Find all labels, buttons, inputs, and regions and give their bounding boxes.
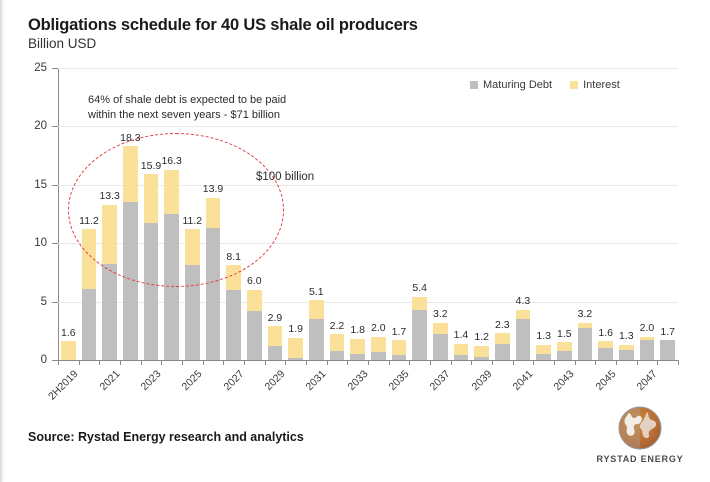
x-axis-label-2033: 2033 [345,368,370,393]
bar-2033[interactable]: 1.8 [350,68,365,360]
page-edge-shadow [0,0,4,482]
x-tick [513,360,514,365]
chart-page: Obligations schedule for 40 US shale oil… [0,0,710,482]
bar-value-label: 5.1 [309,287,324,298]
bar-value-label: 16.3 [161,156,181,167]
segment-maturing-debt [164,214,179,360]
bar-value-label: 2.0 [640,323,655,334]
x-axis-label-2031: 2031 [304,368,329,393]
segment-interest [371,337,386,352]
y-axis-label-5: 5 [41,296,47,308]
segment-interest [454,344,469,356]
segment-interest [516,310,531,319]
segment-interest [392,340,407,355]
segment-maturing-debt [516,319,531,360]
bar-value-label: 1.9 [288,324,303,335]
segment-maturing-debt [226,290,241,360]
segment-interest [598,341,613,348]
x-axis-label-2021: 2021 [97,368,122,393]
segment-maturing-debt [123,202,138,360]
y-axis-label-20: 20 [34,120,47,132]
x-tick [533,360,534,365]
segment-maturing-debt [433,334,448,360]
bar-2048[interactable]: 1.7 [660,68,675,360]
bar-2037[interactable]: 3.2 [433,68,448,360]
source-note: Source: Rystad Energy research and analy… [28,430,304,444]
bar-2031[interactable]: 5.1 [309,68,324,360]
bar-value-label: 2.2 [330,321,345,332]
x-axis-label-2039: 2039 [469,368,494,393]
x-tick [58,360,59,365]
x-axis-label-2045: 2045 [593,368,618,393]
x-axis-label-2H2019: 2H2019 [46,368,80,402]
bar-value-label: 6.0 [247,276,262,287]
bar-value-label: 15.9 [141,161,161,172]
x-tick [265,360,266,365]
segment-maturing-debt [412,310,427,360]
bar-value-label: 1.3 [619,331,634,342]
segment-interest [433,323,448,335]
x-tick [616,360,617,365]
y-axis-label-0: 0 [41,354,47,366]
segment-interest [288,338,303,358]
x-axis-label-2027: 2027 [221,368,246,393]
bar-value-label: 11.2 [79,216,99,227]
bar-value-label: 1.6 [598,328,613,339]
bar-2038[interactable]: 1.4 [454,68,469,360]
x-axis-label-2037: 2037 [428,368,453,393]
x-tick [595,360,596,365]
bar-value-label: 1.7 [392,327,407,338]
bar-value-label: 1.8 [350,325,365,336]
x-tick [141,360,142,365]
bar-2H2019[interactable]: 1.6 [61,68,76,360]
bar-2047[interactable]: 2.0 [640,68,655,360]
x-axis-label-2035: 2035 [386,368,411,393]
bar-value-label: 8.1 [226,252,241,263]
segment-maturing-debt [330,351,345,360]
x-axis-label-2025: 2025 [180,368,205,393]
x-tick [575,360,576,365]
bar-value-label: 4.3 [516,296,531,307]
x-tick [657,360,658,365]
x-tick [554,360,555,365]
page-subtitle: Billion USD [28,36,96,51]
bar-2035[interactable]: 1.7 [392,68,407,360]
bar-value-label: 1.7 [660,327,675,338]
segment-interest [330,334,345,350]
segment-maturing-debt [640,340,655,360]
segment-interest [185,229,200,265]
segment-maturing-debt [144,223,159,360]
bar-value-label: 13.9 [203,184,223,195]
x-axis-label-2023: 2023 [138,368,163,393]
y-axis-label-10: 10 [34,237,47,249]
segment-maturing-debt [598,348,613,360]
segment-interest [61,341,76,360]
x-tick [223,360,224,365]
ellipse-total-label: $100 billion [256,171,314,183]
bar-value-label: 3.2 [578,309,593,320]
segment-interest [123,146,138,202]
bar-2039[interactable]: 1.2 [474,68,489,360]
bar-value-label: 2.3 [495,320,510,331]
segment-interest [102,205,117,265]
segment-maturing-debt [309,319,324,360]
bar-2036[interactable]: 5.4 [412,68,427,360]
bar-2043[interactable]: 1.5 [557,68,572,360]
bar-value-label: 3.2 [433,309,448,320]
x-tick [389,360,390,365]
bar-value-label: 1.6 [61,328,76,339]
x-tick [347,360,348,365]
globe-icon [616,404,664,452]
segment-interest [247,290,262,311]
rystad-energy-logo: RYSTAD ENERGY [592,404,688,470]
x-tick [471,360,472,365]
x-tick [285,360,286,365]
segment-interest [226,265,241,290]
segment-interest [557,342,572,350]
x-tick [79,360,80,365]
bar-2041[interactable]: 4.3 [516,68,531,360]
bar-value-label: 13.3 [99,191,119,202]
logo-text: RYSTAD ENERGY [597,454,684,464]
x-tick [327,360,328,365]
x-tick [120,360,121,365]
x-tick [161,360,162,365]
segment-maturing-debt [82,289,97,360]
segment-interest [82,229,97,289]
x-tick [182,360,183,365]
bar-value-label: 1.4 [454,330,469,341]
x-tick [99,360,100,365]
segment-maturing-debt [660,340,675,360]
x-axis-label-2029: 2029 [262,368,287,393]
segment-maturing-debt [102,264,117,360]
bar-2045[interactable]: 1.6 [598,68,613,360]
x-axis-label-2047: 2047 [634,368,659,393]
segment-maturing-debt [557,351,572,360]
bar-2040[interactable]: 2.3 [495,68,510,360]
segment-maturing-debt [619,350,634,361]
segment-interest [474,346,489,357]
bar-value-label: 1.5 [557,329,572,340]
y-axis-label-25: 25 [34,62,47,74]
callout-annotation: 64% of shale debt is expected to be paid… [88,93,286,123]
segment-maturing-debt [578,328,593,360]
segment-interest [412,297,427,310]
x-tick [678,360,679,365]
y-axis-label-15: 15 [34,179,47,191]
segment-interest [206,198,221,228]
x-axis-label-2041: 2041 [510,368,535,393]
bar-value-label: 18.3 [120,133,140,144]
bar-value-label: 2.9 [268,313,283,324]
segment-interest [164,170,179,214]
segment-interest [350,339,365,354]
x-tick [203,360,204,365]
segment-maturing-debt [268,346,283,360]
x-tick [451,360,452,365]
segment-maturing-debt [371,352,386,360]
bar-value-label: 5.4 [412,283,427,294]
bar-2044[interactable]: 3.2 [578,68,593,360]
segment-maturing-debt [185,265,200,360]
segment-maturing-debt [495,344,510,360]
segment-interest [495,333,510,344]
x-axis-label-2043: 2043 [552,368,577,393]
segment-maturing-debt [206,228,221,360]
bar-2046[interactable]: 1.3 [619,68,634,360]
bar-value-label: 11.2 [182,216,202,227]
page-title: Obligations schedule for 40 US shale oil… [28,16,418,35]
bar-value-label: 2.0 [371,323,386,334]
x-tick [430,360,431,365]
x-tick [368,360,369,365]
bar-value-label: 1.3 [536,331,551,342]
segment-interest [536,345,551,354]
bar-value-label: 1.2 [474,332,489,343]
x-tick [409,360,410,365]
x-axis: 2H20192021202320252027202920312033203520… [58,360,678,406]
bar-2032[interactable]: 2.2 [330,68,345,360]
x-tick [306,360,307,365]
x-tick [492,360,493,365]
bar-2030[interactable]: 1.9 [288,68,303,360]
segment-interest [309,300,324,319]
segment-interest [268,326,283,346]
x-tick [637,360,638,365]
bar-2034[interactable]: 2.0 [371,68,386,360]
segment-maturing-debt [247,311,262,360]
x-tick [244,360,245,365]
bar-2042[interactable]: 1.3 [536,68,551,360]
segment-interest [144,174,159,223]
